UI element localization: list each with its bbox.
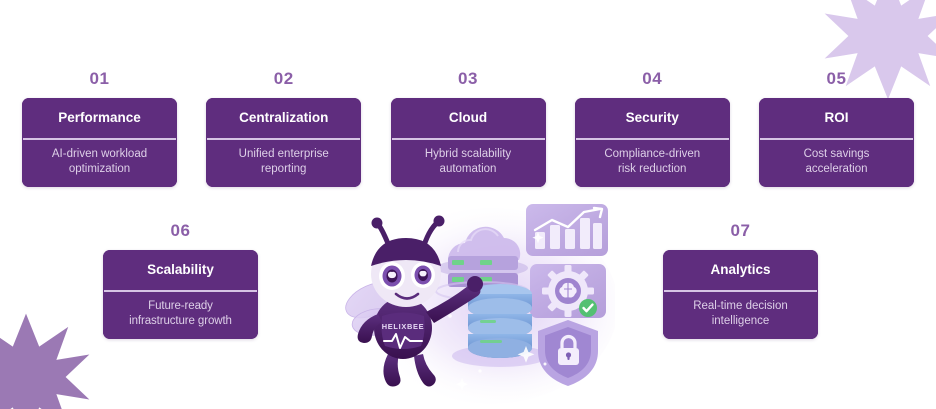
card-subtitle: Future-ready infrastructure growth xyxy=(103,292,258,339)
card-title: Cloud xyxy=(391,98,546,138)
benefit-card-row-top: 01 Performance AI-driven workload optimi… xyxy=(22,70,914,187)
card-subtitle: Real-time decision intelligence xyxy=(663,292,818,339)
benefit-card-05[interactable]: 05 ROI Cost savings acceleration xyxy=(759,70,914,187)
card-subtitle: AI-driven workload optimization xyxy=(22,140,177,187)
card-number: 03 xyxy=(458,70,478,87)
card-title: Performance xyxy=(22,98,177,138)
card-panel[interactable]: Cloud Hybrid scalability automation xyxy=(391,98,546,187)
card-subtitle: Hybrid scalability automation xyxy=(391,140,546,187)
benefit-card-03[interactable]: 03 Cloud Hybrid scalability automation xyxy=(391,70,546,187)
card-title: Scalability xyxy=(103,250,258,290)
card-number: 07 xyxy=(731,222,751,239)
card-subtitle: Compliance-driven risk reduction xyxy=(575,140,730,187)
bar-chart-icon xyxy=(526,204,608,256)
card-subtitle-line: Real-time decision xyxy=(667,299,814,315)
gear-brain-ai-icon xyxy=(530,264,606,318)
card-subtitle-line: Future-ready xyxy=(107,299,254,315)
card-panel[interactable]: Analytics Real-time decision intelligenc… xyxy=(663,250,818,339)
card-title: Centralization xyxy=(206,98,361,138)
card-subtitle: Unified enterprise reporting xyxy=(206,140,361,187)
card-number: 06 xyxy=(171,222,191,239)
card-subtitle-line: AI-driven workload xyxy=(26,147,173,163)
check-badge-icon xyxy=(579,299,597,317)
helixbee-mascot-illustration: HELIXBEE xyxy=(330,196,615,409)
mascot-chest-label: HELIXBEE xyxy=(382,322,425,331)
card-panel[interactable]: Performance AI-driven workload optimizat… xyxy=(22,98,177,187)
card-subtitle: Cost savings acceleration xyxy=(759,140,914,187)
card-panel[interactable]: Centralization Unified enterprise report… xyxy=(206,98,361,187)
infographic-canvas: 01 Performance AI-driven workload optimi… xyxy=(0,0,936,409)
card-title: Analytics xyxy=(663,250,818,290)
card-subtitle-line: infrastructure growth xyxy=(107,314,254,330)
card-panel[interactable]: ROI Cost savings acceleration xyxy=(759,98,914,187)
benefit-card-07[interactable]: 07 Analytics Real-time decision intellig… xyxy=(663,222,818,339)
card-number: 04 xyxy=(642,70,662,87)
card-title: ROI xyxy=(759,98,914,138)
benefit-card-01[interactable]: 01 Performance AI-driven workload optimi… xyxy=(22,70,177,187)
card-subtitle-line: optimization xyxy=(26,162,173,178)
benefit-card-04[interactable]: 04 Security Compliance-driven risk reduc… xyxy=(575,70,730,187)
card-subtitle-line: automation xyxy=(395,162,542,178)
benefit-card-02[interactable]: 02 Centralization Unified enterprise rep… xyxy=(206,70,361,187)
card-number: 01 xyxy=(90,70,110,87)
card-number: 05 xyxy=(827,70,847,87)
card-subtitle-line: acceleration xyxy=(763,162,910,178)
card-subtitle-line: Unified enterprise xyxy=(210,147,357,163)
benefit-card-06[interactable]: 06 Scalability Future-ready infrastructu… xyxy=(103,222,258,339)
card-subtitle-line: intelligence xyxy=(667,314,814,330)
card-subtitle-line: Compliance-driven xyxy=(579,147,726,163)
card-subtitle-line: risk reduction xyxy=(579,162,726,178)
card-subtitle-line: Cost savings xyxy=(763,147,910,163)
card-panel[interactable]: Scalability Future-ready infrastructure … xyxy=(103,250,258,339)
card-subtitle-line: reporting xyxy=(210,162,357,178)
starburst-icon xyxy=(0,311,92,409)
card-subtitle-line: Hybrid scalability xyxy=(395,147,542,163)
card-number: 02 xyxy=(274,70,294,87)
card-panel[interactable]: Security Compliance-driven risk reductio… xyxy=(575,98,730,187)
card-title: Security xyxy=(575,98,730,138)
